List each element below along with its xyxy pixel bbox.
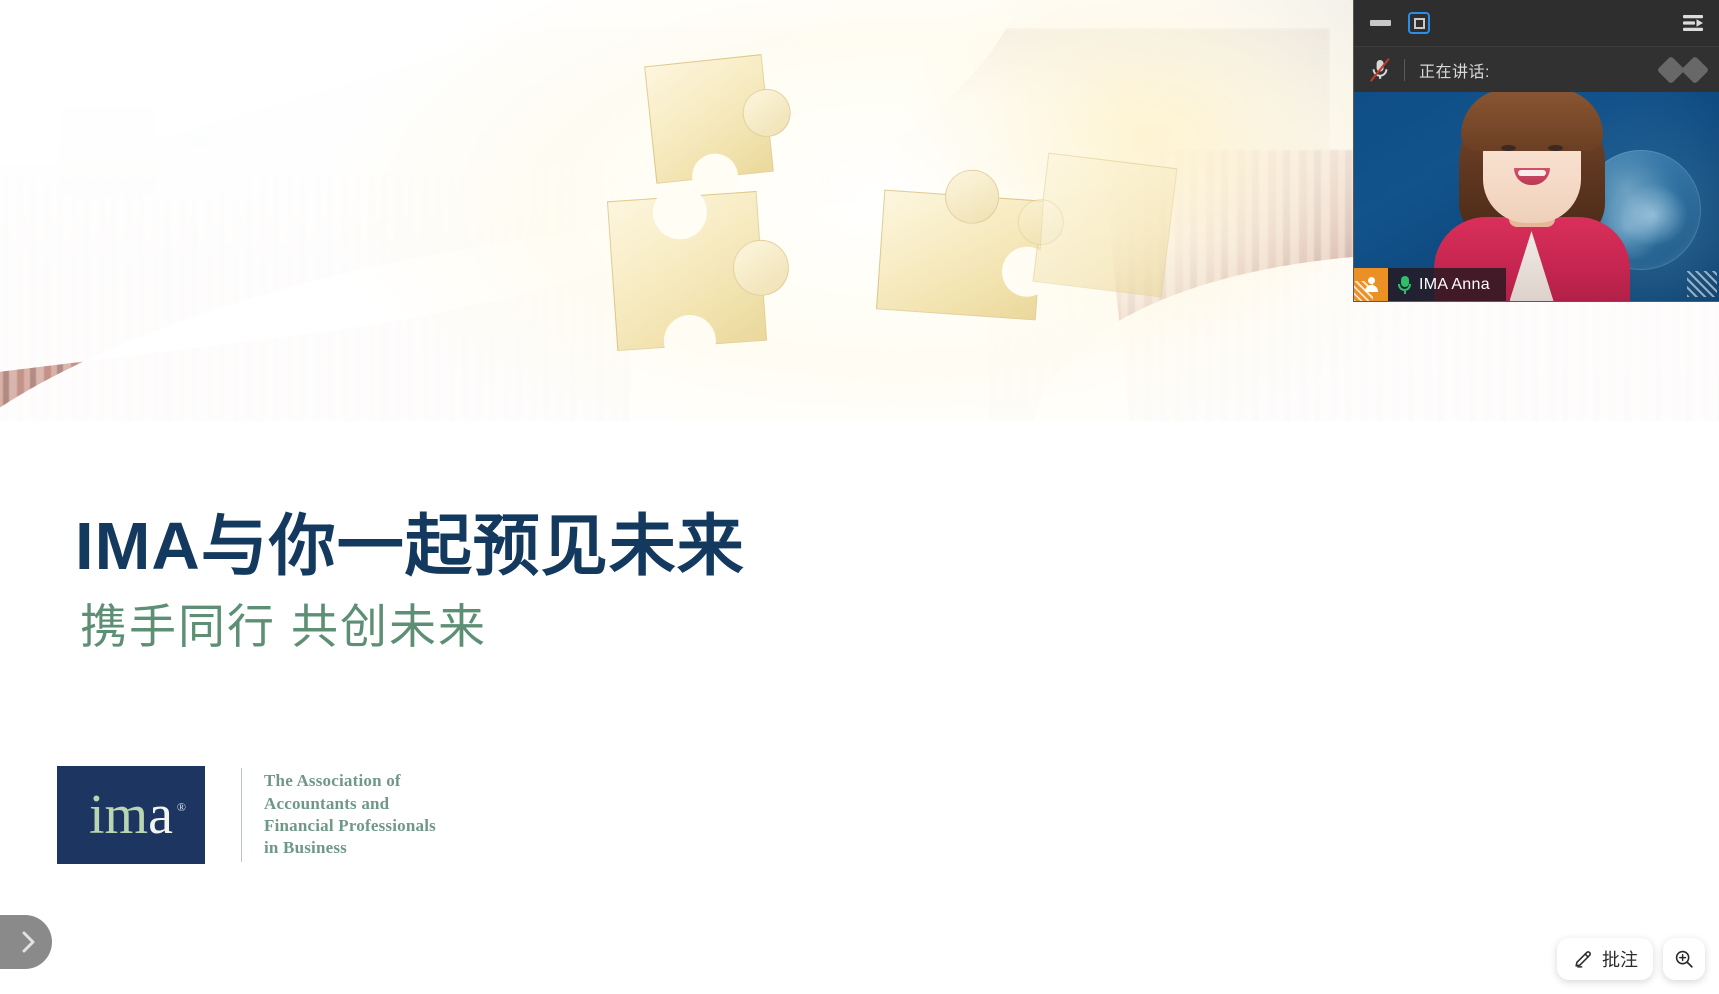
zoom-in-icon	[1673, 948, 1695, 970]
puzzle-piece-icon	[607, 191, 767, 351]
logo-divider	[241, 768, 242, 862]
ima-logo-tagline: The Association of Accountants and Finan…	[264, 770, 436, 860]
divider	[1404, 59, 1405, 81]
video-panel-header	[1354, 0, 1719, 46]
slide-title: IMA与你一起预见未来	[75, 513, 745, 580]
annotate-button[interactable]: 批注	[1557, 938, 1653, 980]
ima-wordmark-a: a	[148, 784, 173, 846]
expand-panel-icon[interactable]	[1681, 13, 1705, 33]
mic-on-icon	[1398, 276, 1411, 294]
chevron-right-icon	[22, 931, 36, 953]
speaking-status-label: 正在讲话:	[1419, 58, 1490, 82]
mic-muted-glyph	[1368, 57, 1392, 83]
speaking-status-bar: 正在讲话:	[1354, 46, 1719, 92]
puzzle-piece-icon	[644, 54, 774, 184]
slide-toolbar: 批注	[1557, 938, 1705, 980]
ima-logo: ima® The Association of Accountants and …	[57, 766, 436, 864]
registered-mark-icon: ®	[177, 801, 186, 813]
screen: IMA与你一起预见未来 携手同行 共创未来 ima® The Associati…	[0, 0, 1719, 994]
maximize-icon[interactable]	[1408, 12, 1430, 34]
expand-panel-glyph	[1681, 13, 1705, 33]
slide-subtitle: 携手同行 共创未来	[80, 603, 487, 650]
panel-resize-handle[interactable]	[1661, 60, 1705, 80]
zoom-in-button[interactable]	[1663, 938, 1705, 980]
ima-wordmark-im: im	[89, 784, 148, 846]
pencil-icon	[1572, 948, 1594, 970]
annotate-button-label: 批注	[1602, 946, 1638, 972]
panel-resize-corner[interactable]	[1687, 271, 1717, 297]
participant-name-badge: IMA Anna	[1354, 268, 1506, 301]
participant-video-feed[interactable]: IMA Anna	[1354, 92, 1719, 301]
ima-wordmark: ima®	[89, 787, 173, 843]
mic-muted-icon[interactable]	[1368, 57, 1392, 83]
puzzle-piece-icon	[1033, 153, 1178, 298]
puzzle-piece-icon	[876, 190, 1044, 321]
ima-logo-mark: ima®	[57, 766, 205, 864]
participant-icon[interactable]	[1354, 268, 1388, 301]
next-slide-button[interactable]	[0, 915, 52, 969]
participant-name: IMA Anna	[1419, 276, 1490, 294]
minimize-icon[interactable]	[1370, 20, 1391, 26]
gallery-view-icon[interactable]	[1447, 13, 1469, 33]
video-panel: 正在讲话:	[1353, 0, 1719, 302]
